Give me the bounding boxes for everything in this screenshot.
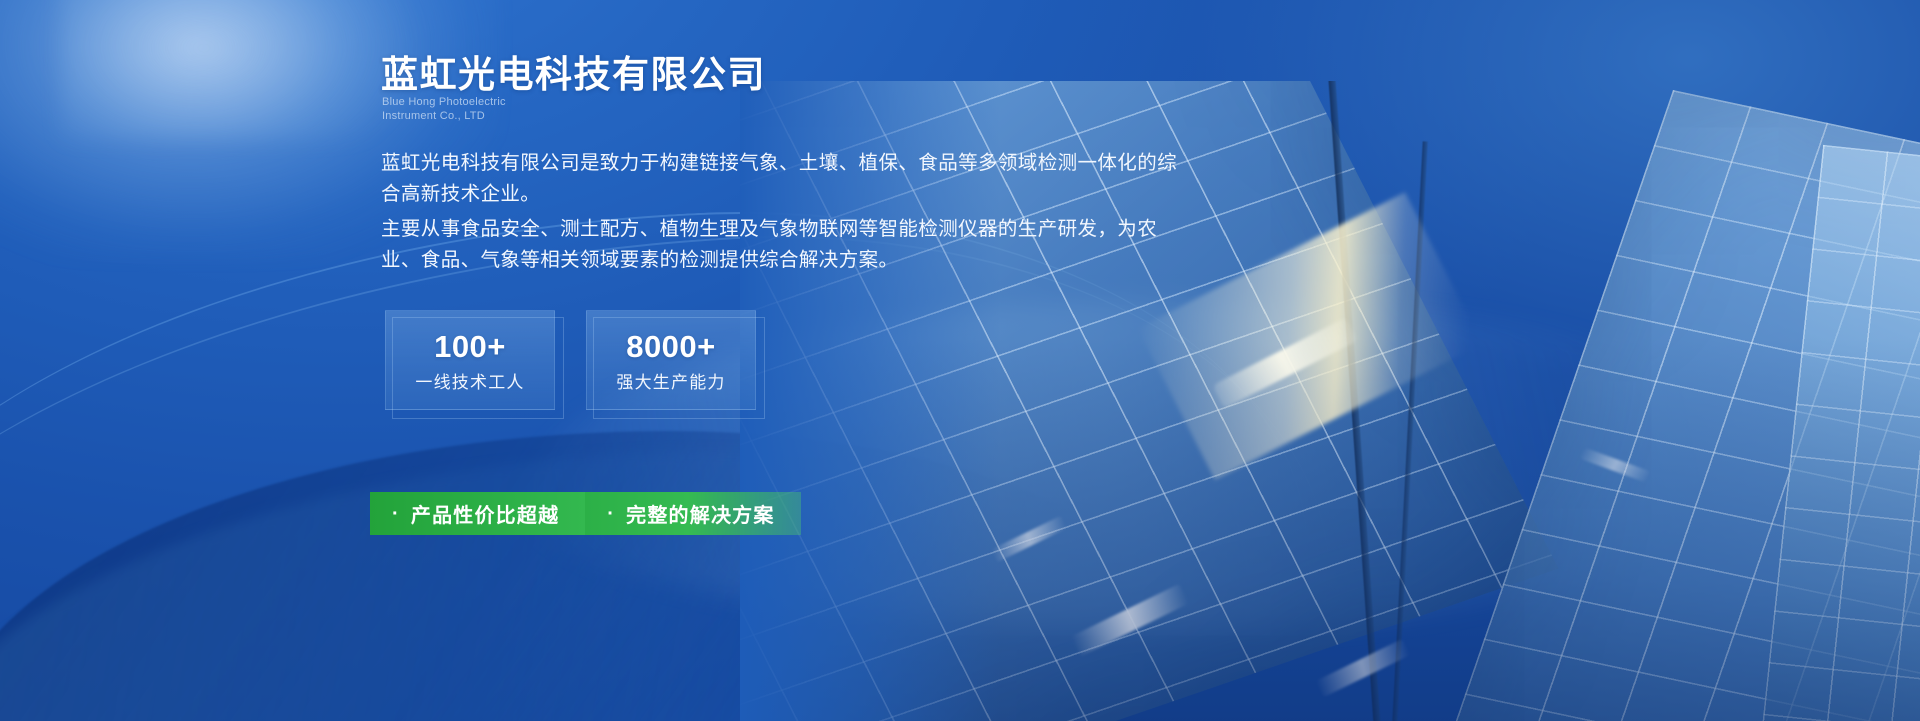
company-name-en-line-1: Blue Hong Photoelectric xyxy=(382,95,506,109)
cloud-shape-left-small xyxy=(60,0,420,140)
stat-card-technicians: 100+ 一线技术工人 xyxy=(385,310,555,410)
hero-content: 蓝虹光电科技有限公司 Blue Hong Photoelectric Instr… xyxy=(381,0,1381,721)
stats-group: 100+ 一线技术工人 8000+ 强大生产能力 xyxy=(385,310,756,410)
intro-paragraph-1: 蓝虹光电科技有限公司是致力于构建链接气象、土壤、植保、食品等多领域检测一体化的综… xyxy=(381,148,1181,210)
stat-label: 强大生产能力 xyxy=(587,368,755,393)
stat-label: 一线技术工人 xyxy=(386,368,554,393)
intro-paragraph-2: 主要从事食品安全、测土配方、植物生理及气象物联网等智能检测仪器的生产研发，为农业… xyxy=(381,214,1181,276)
feature-tags-group: · 产品性价比超越 · 完整的解决方案 xyxy=(370,492,801,535)
feature-tag-label: 完整的解决方案 xyxy=(626,499,774,528)
stat-card-production-capacity: 8000+ 强大生产能力 xyxy=(586,310,756,410)
stat-value: 8000+ xyxy=(587,329,755,365)
bullet-dot-icon: · xyxy=(392,504,400,524)
hero-banner: 蓝虹光电科技有限公司 Blue Hong Photoelectric Instr… xyxy=(0,0,1920,721)
company-name-cn: 蓝虹光电科技有限公司 xyxy=(381,44,766,98)
bullet-dot-icon: · xyxy=(607,504,615,524)
company-name-en-line-2: Instrument Co., LTD xyxy=(382,109,506,123)
stat-value: 100+ xyxy=(386,329,554,365)
company-name-en: Blue Hong Photoelectric Instrument Co., … xyxy=(382,95,506,123)
feature-tag-label: 产品性价比超越 xyxy=(411,499,559,528)
feature-tag-complete-solution[interactable]: · 完整的解决方案 xyxy=(585,492,800,535)
feature-tag-value-for-money[interactable]: · 产品性价比超越 xyxy=(370,492,585,535)
